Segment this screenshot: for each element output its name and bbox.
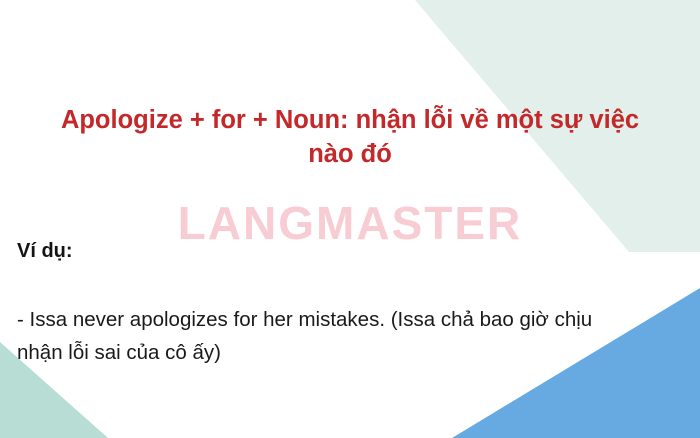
slide-canvas: LANGMASTER Apologize + for + Noun: nhận … <box>0 0 700 438</box>
example-label: Ví dụ: <box>17 240 73 263</box>
page-title-line-2: nào đó <box>18 137 682 171</box>
slide-content: Apologize + for + Noun: nhận lỗi về một … <box>0 0 700 438</box>
page-title: Apologize + for + Noun: nhận lỗi về một … <box>18 103 682 171</box>
example-body-line-2: nhận lỗi sai của cô ấy) <box>17 336 682 369</box>
example-body: - Issa never apologizes for her mistakes… <box>17 303 682 369</box>
example-body-line-1: - Issa never apologizes for her mistakes… <box>17 303 682 336</box>
page-title-line-1: Apologize + for + Noun: nhận lỗi về một … <box>18 103 682 137</box>
